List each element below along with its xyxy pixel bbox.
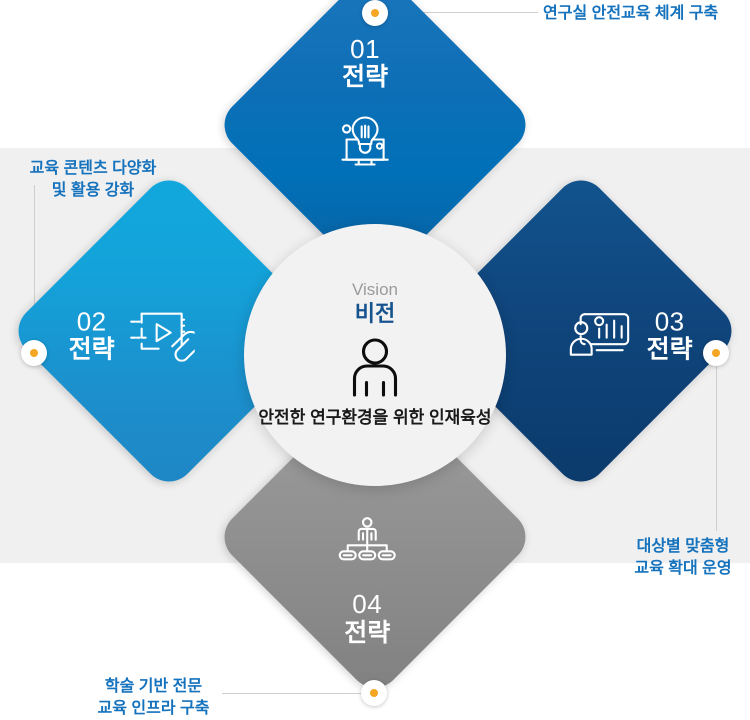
strategy-04-label: 전략 (344, 618, 390, 648)
connector-dot-top[interactable] (362, 0, 388, 26)
monitor-lightbulb-icon (334, 114, 396, 175)
callout-label-04: 학술 기반 전문 교육 인프라 구축 (85, 676, 222, 720)
video-attachment-icon (129, 307, 195, 366)
callout-label-01-line1: 연구실 안전교육 체계 구축 (543, 3, 718, 25)
vision-label-ko: 비전 (355, 300, 395, 328)
callout-label-04-line2: 교육 인프라 구축 (85, 698, 222, 720)
strategy-02-label: 전략 (69, 336, 115, 366)
callout-label-04-line1: 학술 기반 전문 (85, 676, 222, 698)
callout-label-02: 교육 콘텐츠 다양화 및 활용 강화 (18, 158, 168, 202)
vision-label-en: Vision (352, 281, 398, 300)
vision-statement: 안전한 연구환경을 위한 인재육성 (258, 407, 491, 429)
vision-statement-line2: 위한 인재육성 (393, 408, 492, 427)
callout-label-02-line2: 및 활용 강화 (18, 180, 168, 202)
org-chart-icon (337, 517, 397, 572)
connector-line-right (716, 366, 717, 531)
connector-dot-left[interactable] (21, 340, 47, 366)
strategy-01-number: 01 (350, 35, 380, 63)
callout-label-03: 대상별 맞춤형 교육 확대 운영 (628, 536, 738, 580)
connector-dot-right[interactable] (703, 340, 729, 366)
connector-dot-bottom[interactable] (361, 680, 387, 706)
diagram-canvas: 01 전략 02 전략 (0, 0, 750, 720)
strategy-03-label: 전략 (647, 336, 693, 366)
vision-statement-line1: 안전한 연구환경을 (258, 408, 388, 427)
callout-label-02-line1: 교육 콘텐츠 다양화 (18, 158, 168, 180)
presentation-chart-person-icon (569, 308, 633, 365)
strategy-01-label: 전략 (342, 63, 388, 93)
strategy-04-number: 04 (352, 590, 382, 618)
strategy-03-number: 03 (655, 308, 685, 336)
connector-line-bottom (222, 693, 374, 694)
strategy-02-number: 02 (77, 308, 107, 336)
callout-label-03-line1: 대상별 맞춤형 (628, 536, 738, 558)
callout-label-03-line2: 교육 확대 운영 (628, 558, 738, 580)
person-icon (349, 337, 401, 402)
vision-circle[interactable]: Vision 비전 안전한 연구환경을 위한 인재육성 (244, 224, 506, 486)
callout-label-01: 연구실 안전교육 체계 구축 (543, 3, 718, 25)
